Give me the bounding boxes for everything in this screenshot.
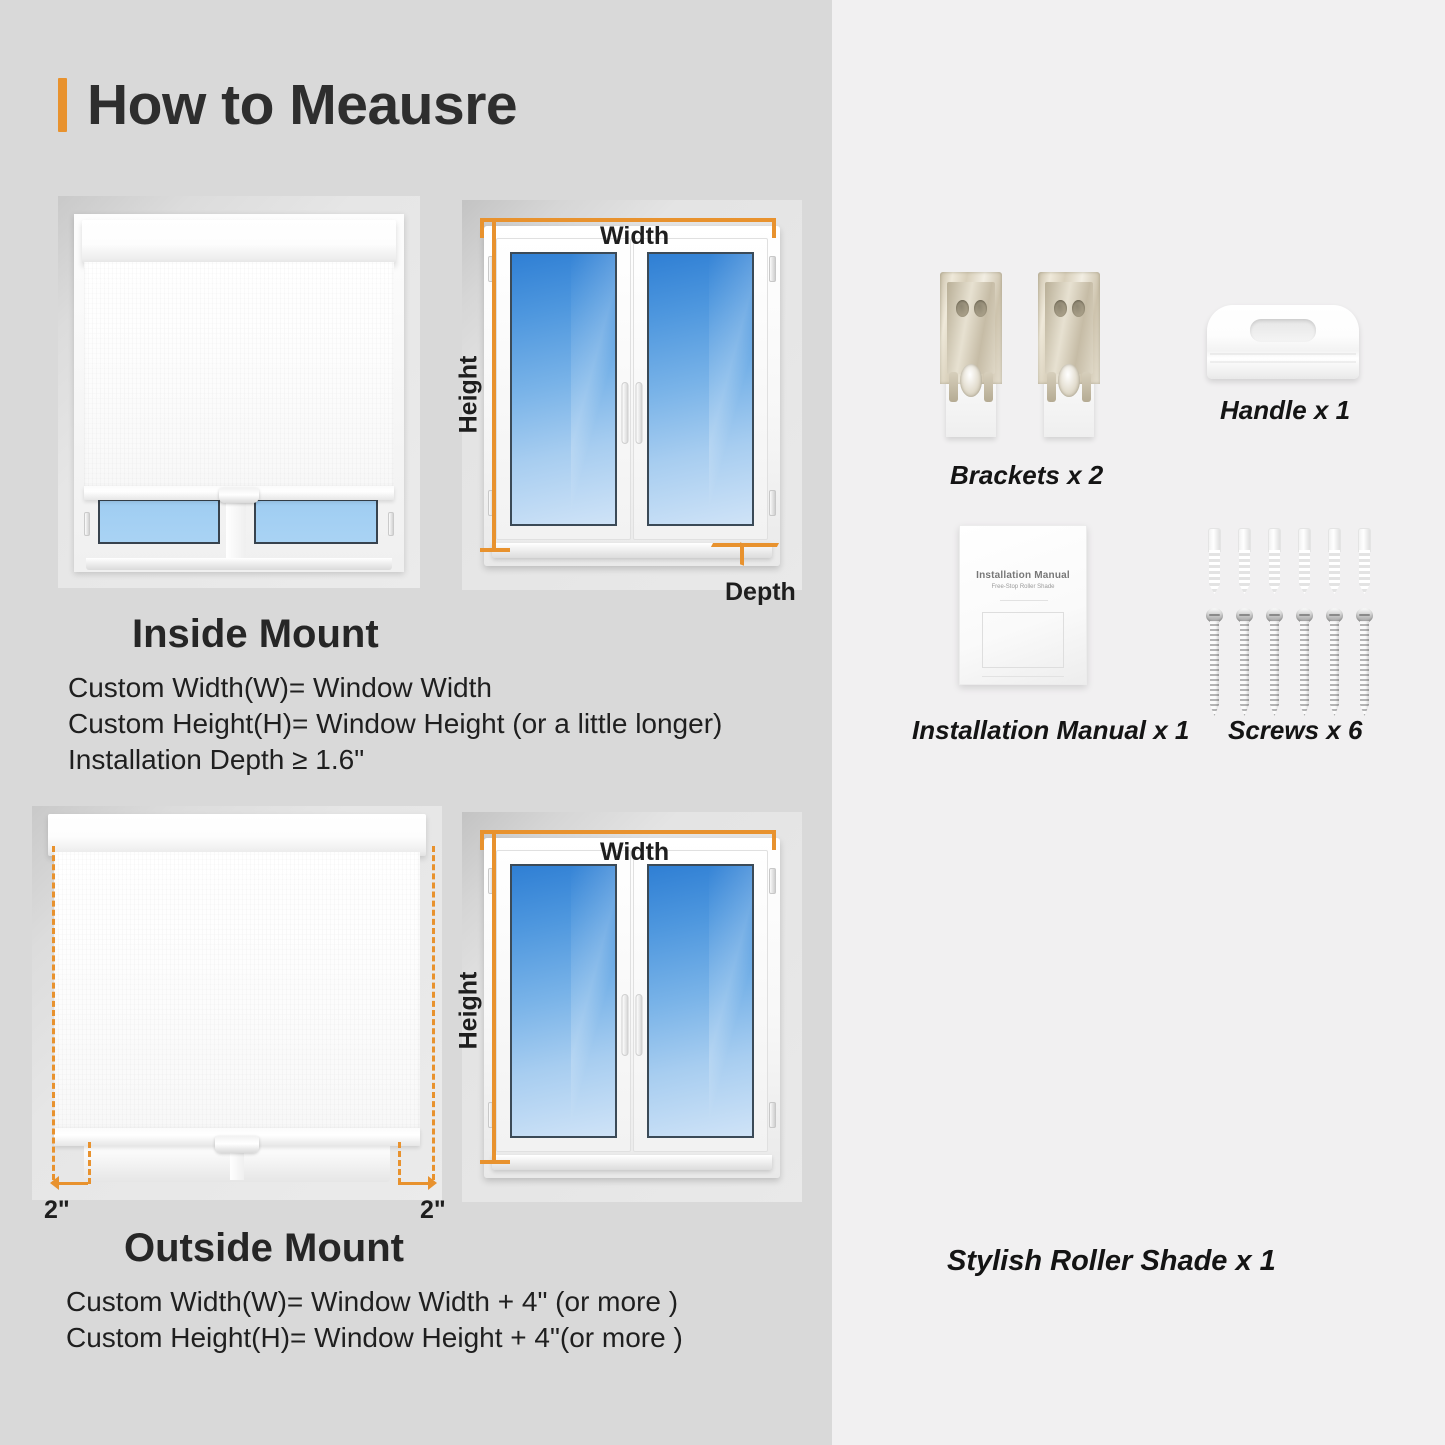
height-label: Height	[454, 356, 483, 434]
wall-anchor	[1236, 528, 1253, 594]
height-marker-line	[492, 834, 496, 1164]
manual-decor-line	[1000, 600, 1048, 601]
glass-glare	[571, 866, 614, 1136]
wall-anchor	[1356, 528, 1373, 594]
window-hinge-right-icon	[388, 512, 394, 536]
window-pane-right	[254, 499, 378, 544]
hinge-bottom-right-icon	[769, 1102, 776, 1128]
screw	[1236, 608, 1253, 716]
accent-bar-icon	[58, 78, 67, 132]
overhang-label-left: 2"	[44, 1196, 70, 1225]
overhang-arrow-right	[398, 1182, 430, 1185]
screw	[1266, 608, 1283, 716]
installation-manual-label: Installation Manual x 1	[912, 715, 1189, 746]
window-sash-left	[496, 850, 631, 1152]
manual-cover: Installation Manual Free-Stop Roller Sha…	[959, 525, 1087, 685]
outside-mount-line-2: Custom Height(H)= Window Height + 4"(or …	[66, 1320, 683, 1356]
depth-marker-line	[711, 543, 779, 547]
overhang-guide-right-outer	[432, 846, 435, 1180]
handle-ridge	[1210, 353, 1356, 355]
hinge-top-right-icon	[769, 868, 776, 894]
window-frame	[484, 838, 780, 1178]
manual-cover-image-box	[982, 612, 1064, 668]
bracket-slot-left	[1047, 372, 1056, 402]
bracket-slot-left	[949, 372, 958, 402]
width-label: Width	[600, 222, 669, 251]
handle-ridge	[1210, 361, 1356, 363]
width-marker-tick-left	[480, 830, 484, 850]
window-sash-right	[633, 238, 768, 540]
infographic-page: How to Meausre	[0, 0, 1445, 1445]
window-glass-left	[510, 252, 617, 526]
outside-mount-title: Outside Mount	[124, 1226, 404, 1271]
window-sash-left	[496, 238, 631, 540]
depth-label: Depth	[725, 578, 796, 607]
handle-label: Handle x 1	[1220, 395, 1350, 426]
inside-mount-description: Custom Width(W)= Window Width Custom Hei…	[68, 670, 722, 777]
height-marker-line	[492, 222, 496, 552]
inside-mount-line-3: Installation Depth ≥ 1.6"	[68, 742, 722, 778]
bracket-hole	[974, 300, 987, 317]
inside-mount-line-2: Custom Height(H)= Window Height (or a li…	[68, 706, 722, 742]
window-glass-right	[647, 252, 754, 526]
inside-mount-measure-diagram	[462, 200, 802, 590]
wall-anchor	[1266, 528, 1283, 594]
screw	[1296, 608, 1313, 716]
installation-manual-item: Installation Manual Free-Stop Roller Sha…	[959, 525, 1087, 685]
outside-mount-description: Custom Width(W)= Window Width + 4" (or m…	[66, 1284, 683, 1356]
bracket-hole	[1072, 300, 1085, 317]
width-marker-tick-right	[772, 830, 776, 850]
overhang-guide-right-inner	[398, 1142, 401, 1184]
bracket-oval-hole	[960, 364, 982, 397]
hinge-bottom-right-icon	[769, 490, 776, 516]
outside-mount-shade-illustration	[32, 806, 442, 1200]
depth-marker-tick	[740, 542, 744, 566]
width-marker-line	[480, 830, 776, 834]
shade-fabric	[54, 852, 420, 1130]
window-pane-left	[98, 499, 220, 544]
outside-mount-measure-diagram	[462, 812, 802, 1202]
window-sill	[492, 1155, 772, 1170]
overhang-guide-left-inner	[88, 1142, 91, 1184]
inside-mount-title: Inside Mount	[132, 612, 379, 657]
handle-grip-slot	[1250, 319, 1317, 342]
inside-mount-shade-illustration	[58, 196, 420, 588]
how-to-measure-title: How to Meausre	[87, 72, 517, 138]
screw	[1206, 608, 1223, 716]
shade-pull-handle[interactable]	[215, 1136, 259, 1153]
overhang-arrowhead-left	[50, 1176, 59, 1190]
glass-glare	[709, 254, 752, 524]
height-marker-tick-bottom	[480, 1160, 510, 1164]
how-to-measure-heading: How to Meausre	[58, 72, 517, 138]
bracket-slot-right	[1082, 372, 1091, 402]
bracket-item-2	[1038, 272, 1100, 437]
width-marker-tick-left	[480, 218, 484, 238]
wall-anchor	[1296, 528, 1313, 594]
width-marker-tick-right	[772, 218, 776, 238]
roller-shade-label: Stylish Roller Shade x 1	[947, 1245, 1276, 1278]
width-label-2: Width	[600, 838, 669, 867]
manual-footer-line	[982, 676, 1064, 677]
window-sill	[86, 558, 392, 570]
window-glass-left	[510, 864, 617, 1138]
outside-mount-line-1: Custom Width(W)= Window Width + 4" (or m…	[66, 1284, 683, 1320]
inside-mount-line-1: Custom Width(W)= Window Width	[68, 670, 722, 706]
screw	[1326, 608, 1343, 716]
wall-anchor	[1326, 528, 1343, 594]
shade-cassette	[48, 814, 426, 856]
window-handles-icon	[622, 994, 643, 1056]
shade-pull-handle[interactable]	[219, 488, 259, 503]
height-marker-tick-bottom	[480, 548, 510, 552]
window-hinge-left-icon	[84, 512, 90, 536]
manual-cover-subtitle: Free-Stop Roller Shade	[960, 584, 1086, 590]
overhang-guide-left-outer	[52, 846, 55, 1180]
handle-item	[1207, 305, 1359, 379]
shade-cassette	[82, 220, 396, 264]
package-contents-panel: What's in the package Brackets x 2	[832, 0, 1445, 1445]
window-frame	[484, 226, 780, 566]
bracket-hole	[956, 300, 969, 317]
window-handles-icon	[622, 382, 643, 444]
overhang-arrow-left	[56, 1182, 88, 1185]
bracket-item-1	[940, 272, 1002, 437]
wall-anchor	[1206, 528, 1223, 594]
window-glass-right	[647, 864, 754, 1138]
bracket-slot-right	[984, 372, 993, 402]
hinge-top-right-icon	[769, 256, 776, 282]
bracket-hole	[1054, 300, 1067, 317]
how-to-measure-panel: How to Meausre	[0, 0, 832, 1445]
handle-body	[1207, 305, 1359, 379]
shade-fabric	[84, 262, 394, 489]
window-sash-right	[633, 850, 768, 1152]
overhang-label-right: 2"	[420, 1196, 446, 1225]
glass-glare	[709, 866, 752, 1136]
height-label-2: Height	[454, 972, 483, 1050]
manual-cover-title: Installation Manual	[960, 570, 1086, 581]
screw	[1356, 608, 1373, 716]
bracket-oval-hole	[1058, 364, 1080, 397]
screws-label: Screws x 6	[1228, 715, 1362, 746]
overhang-arrowhead-right	[428, 1176, 437, 1190]
brackets-label: Brackets x 2	[950, 460, 1103, 491]
glass-glare	[571, 254, 614, 524]
